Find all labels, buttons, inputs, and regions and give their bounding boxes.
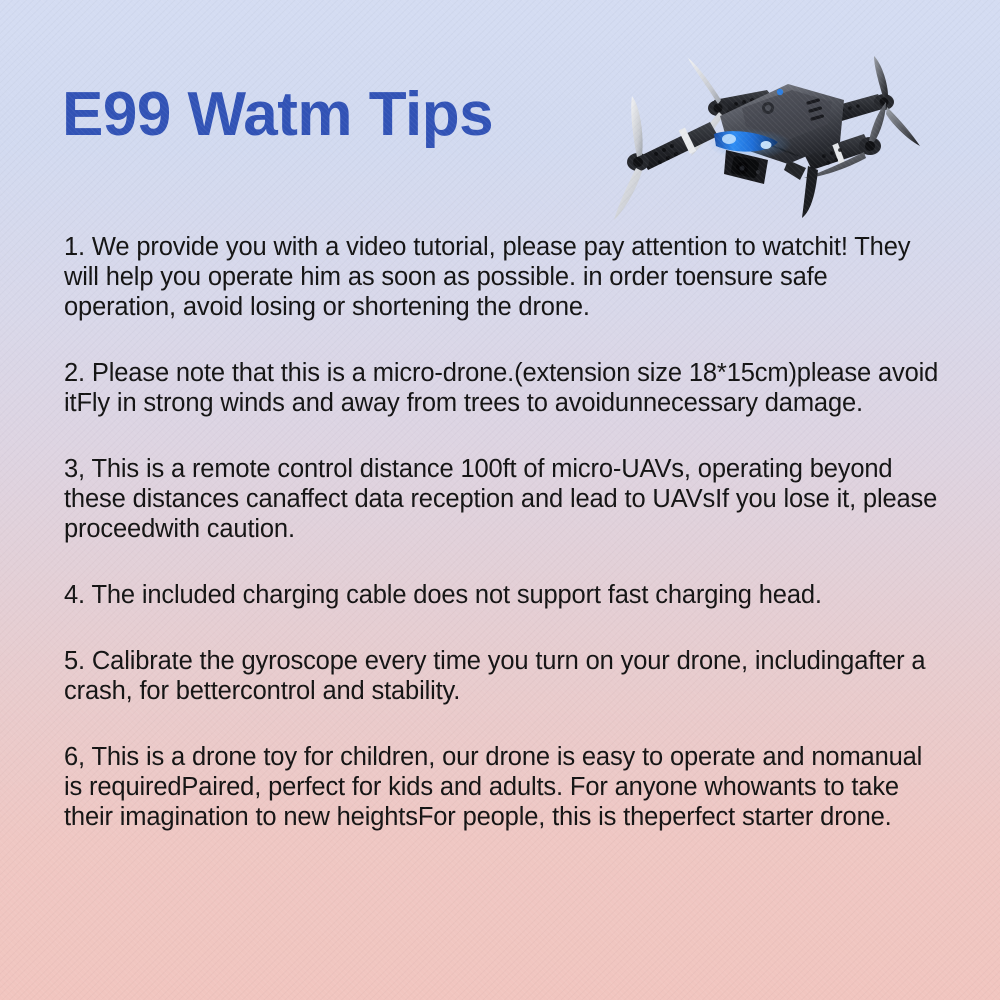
drone-product-image [592,38,964,234]
tip-item-3: 3, This is a remote control distance 100… [64,454,942,544]
drone-led-light [708,129,792,159]
tip-item-2: 2. Please note that this is a micro-dron… [64,358,942,418]
tip-item-4: 4. The included charging cable does not … [64,580,942,610]
tip-item-5: 5. Calibrate the gyroscope every time yo… [64,646,942,706]
product-info-poster: E99 Watm Tips [0,0,1000,1000]
tip-item-1: 1. We provide you with a video tutorial,… [64,232,942,322]
page-title: E99 Watm Tips [62,84,493,146]
drone-propeller-front-left [614,96,718,220]
tips-list: 1. We provide you with a video tutorial,… [64,232,942,832]
poster-header: E99 Watm Tips [0,0,1000,232]
tip-item-6: 6, This is a drone toy for children, our… [64,742,942,832]
